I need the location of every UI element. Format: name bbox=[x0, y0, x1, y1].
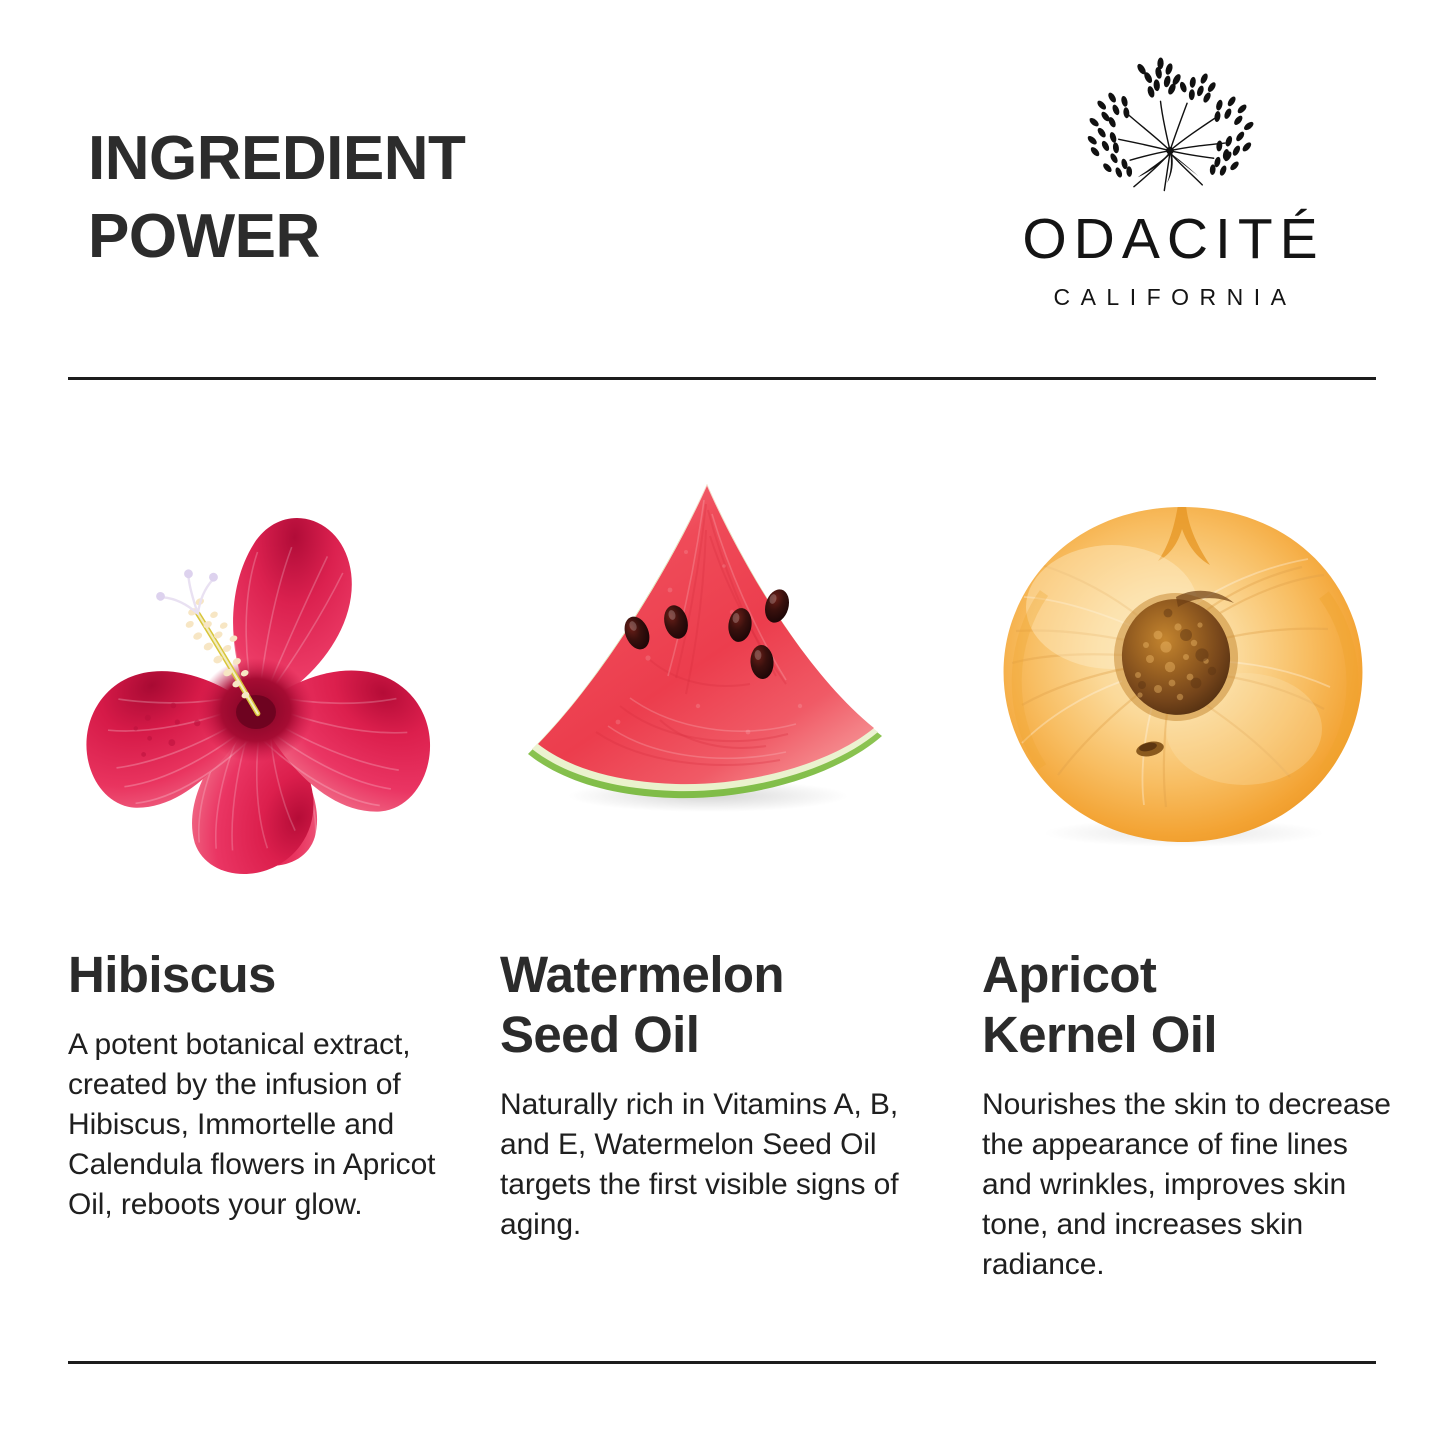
dandelion-umbel-icon bbox=[1075, 52, 1265, 200]
card-body-hibiscus: A potent botanical extract, created by t… bbox=[68, 1025, 438, 1225]
card-title-watermelon: Watermelon Seed Oil bbox=[500, 945, 900, 1065]
watermelon-image-slot bbox=[500, 410, 920, 910]
watermelon-text-block: Watermelon Seed Oil Naturally rich in Vi… bbox=[500, 945, 900, 1275]
hibiscus-image-slot bbox=[68, 410, 488, 910]
card-title-apricot: Apricot Kernel Oil bbox=[982, 945, 1382, 1065]
brand-name: ODACITÉ bbox=[945, 210, 1395, 270]
apricot-image-slot bbox=[982, 410, 1402, 910]
brand-lockup: ODACITÉ CALIFORNIA bbox=[945, 52, 1395, 311]
ingredient-card-hibiscus: Hibiscus A potent botanical extract, cre… bbox=[68, 410, 488, 910]
hibiscus-flower-image bbox=[60, 460, 460, 880]
ingredient-card-watermelon: Watermelon Seed Oil Naturally rich in Vi… bbox=[500, 410, 920, 910]
ingredient-power-infographic: INGREDIENT POWER bbox=[0, 0, 1445, 1445]
header: INGREDIENT POWER bbox=[0, 0, 1445, 378]
apricot-text-block: Apricot Kernel Oil Nourishes the skin to… bbox=[982, 945, 1392, 1315]
leaflet-cluster-group bbox=[1086, 57, 1255, 178]
card-title-hibiscus: Hibiscus bbox=[68, 945, 428, 1005]
divider-top bbox=[68, 377, 1376, 380]
watermelon-slice-image bbox=[500, 470, 920, 870]
divider-bottom bbox=[68, 1361, 1376, 1364]
card-body-watermelon: Naturally rich in Vitamins A, B, and E, … bbox=[500, 1085, 900, 1245]
apricot-half-image bbox=[972, 485, 1392, 865]
hibiscus-text-block: Hibiscus A potent botanical extract, cre… bbox=[68, 945, 438, 1255]
page-title: INGREDIENT POWER bbox=[88, 120, 708, 276]
card-body-apricot: Nourishes the skin to decrease the appea… bbox=[982, 1085, 1392, 1285]
ingredient-card-apricot: Apricot Kernel Oil Nourishes the skin to… bbox=[982, 410, 1402, 910]
brand-tagline: CALIFORNIA bbox=[945, 284, 1395, 311]
